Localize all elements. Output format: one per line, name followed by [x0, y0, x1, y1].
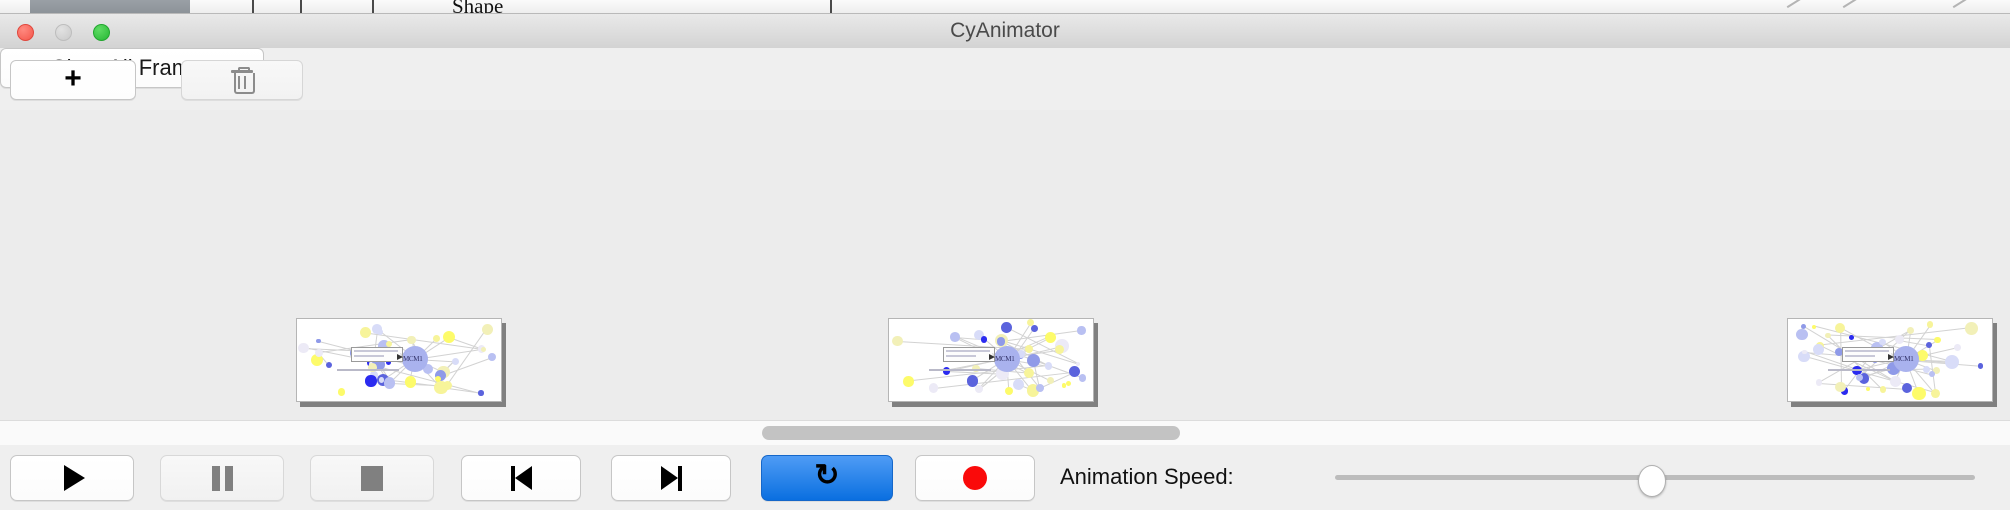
graph-node — [452, 358, 459, 365]
graph-node — [433, 335, 440, 342]
graph-caption — [929, 369, 991, 371]
graph-node — [1025, 345, 1033, 353]
graph-node — [360, 327, 371, 338]
graph-hub-label: MCM1 — [403, 355, 422, 363]
graph-node — [1965, 322, 1978, 335]
graph-node — [967, 375, 979, 387]
window-title: CyAnimator — [0, 14, 2010, 48]
thumbnail-plate: MCM1 — [1787, 318, 1993, 402]
graph-node — [892, 336, 903, 347]
background-window-label: Shape — [452, 0, 503, 14]
graph-node — [997, 337, 1005, 345]
graph-node — [1802, 350, 1806, 354]
graph-caption — [1828, 369, 1890, 371]
graph-node — [481, 347, 486, 352]
window-titlebar: CyAnimator — [0, 14, 2010, 49]
graph-node — [903, 376, 913, 386]
graph-node — [1866, 387, 1870, 391]
graph-node — [298, 343, 308, 353]
network-graph-preview: MCM1 — [297, 319, 501, 401]
graph-hub-label: MCM1 — [1894, 355, 1913, 363]
graph-node — [478, 390, 483, 395]
graph-node — [407, 336, 415, 344]
graph-node — [1005, 387, 1013, 395]
graph-node — [1055, 345, 1064, 354]
plus-icon: + — [64, 64, 82, 94]
animation-speed-label: Animation Speed: — [1060, 455, 1234, 499]
graph-node — [384, 377, 396, 389]
graph-node — [1954, 344, 1961, 351]
graph-node — [1907, 327, 1914, 334]
graph-node — [482, 324, 493, 335]
graph-node — [1045, 332, 1056, 343]
graph-node — [405, 376, 416, 387]
graph-tooltip-text-line — [354, 350, 398, 352]
graph-node — [1895, 335, 1904, 344]
timeline-panel[interactable]: MCM1MCM1MCM1 12131415161718 Seconds — [0, 110, 2010, 420]
graph-node — [1835, 323, 1845, 333]
graph-node — [1076, 362, 1080, 366]
graph-node — [1931, 389, 1940, 398]
play-button[interactable] — [10, 455, 134, 501]
scrollbar-thumb[interactable] — [762, 426, 1180, 440]
graph-node — [338, 388, 345, 395]
playback-control-bar: ↻ Animation Speed: — [0, 445, 2010, 510]
graph-node — [1835, 382, 1845, 392]
graph-node — [1890, 376, 1901, 387]
graph-node — [372, 324, 382, 334]
stop-button[interactable] — [310, 455, 434, 501]
graph-node — [1013, 379, 1024, 390]
network-graph-preview: MCM1 — [1788, 319, 1992, 401]
delete-frame-button[interactable] — [181, 60, 303, 100]
graph-node — [1045, 362, 1052, 369]
graph-node — [1978, 363, 1983, 368]
pause-button[interactable] — [160, 455, 284, 501]
graph-node — [1001, 322, 1012, 333]
graph-caption — [337, 369, 399, 371]
graph-node — [488, 353, 496, 361]
animation-speed-slider[interactable] — [1335, 455, 1975, 499]
graph-tooltip-text-line — [946, 355, 976, 357]
slider-thumb[interactable] — [1638, 465, 1666, 497]
graph-tooltip-text-line — [1845, 350, 1889, 352]
graph-node — [365, 375, 376, 386]
graph-node — [1813, 344, 1824, 355]
graph-node — [950, 332, 960, 342]
frame-thumbnail[interactable]: MCM1 — [888, 318, 1098, 406]
graph-node — [1849, 335, 1854, 340]
graph-node — [1945, 355, 1959, 369]
thumbnail-plate: MCM1 — [296, 318, 502, 402]
next-frame-button[interactable] — [611, 455, 731, 501]
graph-node — [981, 336, 988, 343]
graph-node — [975, 385, 983, 393]
frame-thumbnail[interactable]: MCM1 — [1787, 318, 1997, 406]
network-graph-preview: MCM1 — [889, 319, 1093, 401]
loop-icon: ↻ — [814, 461, 839, 491]
skip-back-icon — [511, 466, 532, 491]
thumbnail-plate: MCM1 — [888, 318, 1094, 402]
graph-node — [929, 383, 939, 393]
loop-button[interactable]: ↻ — [761, 455, 893, 501]
graph-node — [1031, 325, 1038, 332]
graph-node — [1024, 368, 1034, 378]
frame-thumbnail[interactable]: MCM1 — [296, 318, 506, 406]
timeline-scrollbar[interactable] — [0, 420, 2010, 446]
stop-icon — [361, 466, 383, 491]
graph-node — [316, 339, 320, 343]
graph-node — [1816, 379, 1822, 385]
graph-tooltip-text-line — [354, 355, 384, 357]
graph-node — [1077, 326, 1085, 334]
play-icon — [64, 465, 85, 491]
graph-node — [1879, 339, 1885, 345]
graph-node — [1934, 337, 1941, 344]
record-button[interactable] — [915, 455, 1035, 501]
graph-node — [1923, 366, 1930, 373]
trash-icon — [231, 67, 253, 93]
graph-arrow — [1888, 354, 1894, 360]
graph-node — [1880, 386, 1887, 393]
graph-node — [1036, 384, 1044, 392]
graph-arrow — [989, 354, 995, 360]
graph-node — [326, 362, 332, 368]
graph-node — [1902, 383, 1912, 393]
graph-hub-label: MCM1 — [995, 355, 1014, 363]
pause-icon — [212, 466, 233, 491]
graph-node — [443, 331, 455, 343]
frame-toolbar: + Clear All Frames — [0, 48, 2010, 111]
graph-node — [1079, 374, 1087, 382]
graph-tooltip-text-line — [946, 350, 990, 352]
graph-node — [1047, 377, 1054, 384]
graph-arrow — [397, 354, 403, 360]
record-icon — [963, 466, 987, 490]
skip-forward-icon — [661, 466, 682, 491]
graph-node — [1926, 342, 1932, 348]
graph-node — [1929, 371, 1935, 377]
previous-frame-button[interactable] — [461, 455, 581, 501]
graph-node — [1912, 387, 1926, 401]
graph-node — [1066, 381, 1071, 386]
add-frame-button[interactable]: + — [10, 60, 136, 100]
graph-node — [1801, 324, 1806, 329]
graph-node — [1927, 321, 1934, 328]
background-window-strip: Shape — [0, 0, 2010, 14]
graph-node — [1796, 329, 1807, 340]
graph-node — [1812, 325, 1816, 329]
graph-node — [435, 376, 441, 382]
graph-tooltip-text-line — [1845, 355, 1875, 357]
